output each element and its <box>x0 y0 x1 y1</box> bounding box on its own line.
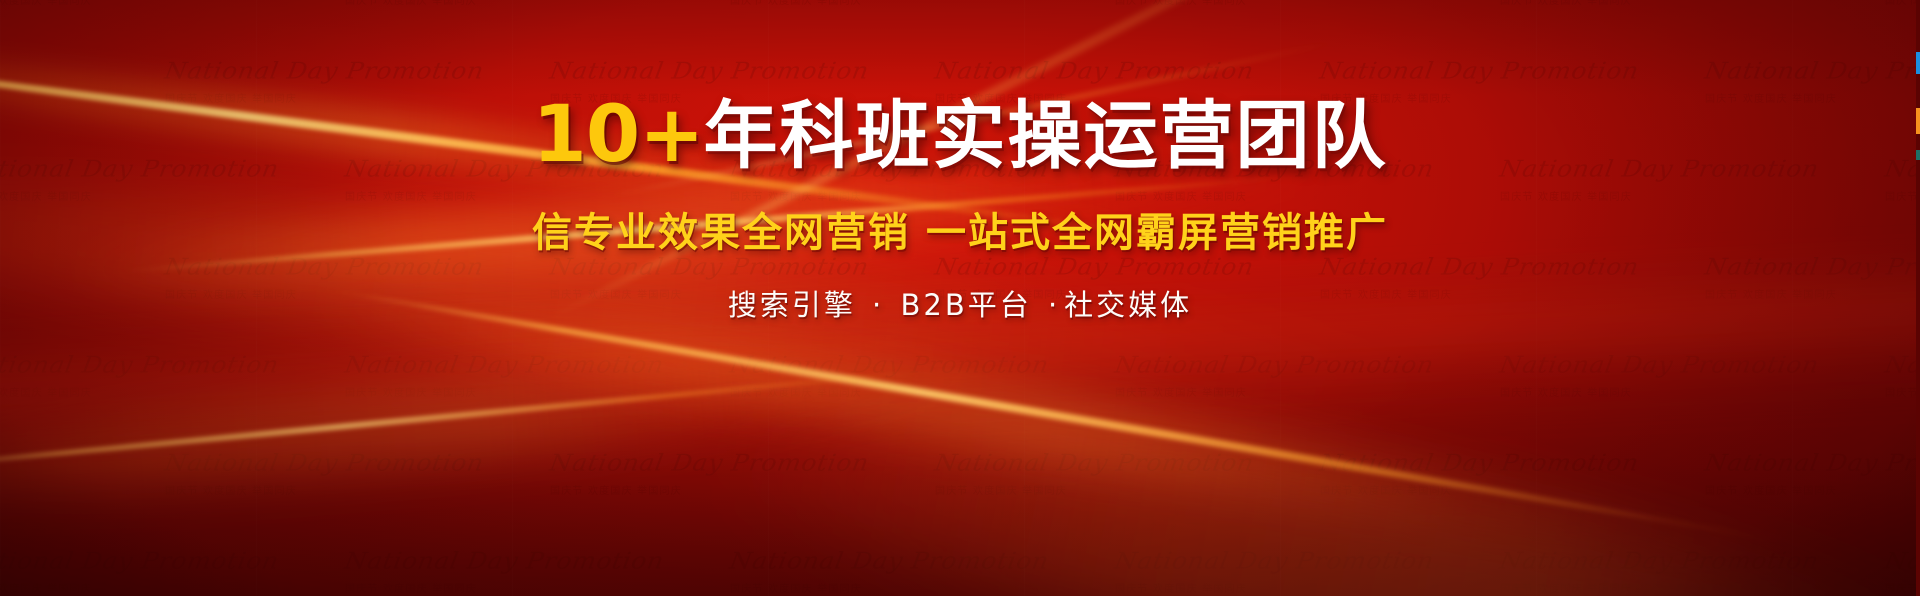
headline-number: 10+ <box>533 90 704 180</box>
watermark-sub-text: 国庆节 欢度国庆 举国同庆 <box>1115 580 1500 595</box>
tagline-item-social-media: 社交媒体 <box>1064 288 1192 322</box>
headline-text: 年科班实操运营团队 <box>703 93 1387 179</box>
watermark-sub-text: 国庆节 欢度国庆 举国同庆 <box>550 482 935 497</box>
watermark-script-text: National Day Promotion <box>0 549 347 572</box>
light-streak-glow-bottom <box>0 329 999 520</box>
watermark-tile: National Day Promotion国庆节 欢度国庆 举国同庆 <box>1705 450 1920 497</box>
watermark-script-text: National Day Promotion <box>1318 451 1707 474</box>
watermark-script-text: National Day Promotion <box>933 451 1322 474</box>
watermark-sub-text: 国庆节 欢度国庆 举国同庆 <box>1500 580 1885 595</box>
watermark-tile: National Day Promotion国庆节 欢度国庆 举国同庆 <box>730 352 1115 399</box>
watermark-sub-text: 国庆节 欢度国庆 举国同庆 <box>1705 482 1920 497</box>
edge-mark-blue-icon <box>1916 52 1920 74</box>
watermark-sub-text: 国庆节 欢度国庆 举国同庆 <box>0 580 345 595</box>
watermark-script-text: National Day Promotion <box>728 549 1117 572</box>
watermark-script-text: National Day Promotion <box>343 353 732 376</box>
watermark-row: National Day Promotion国庆节 欢度国庆 举国同庆Natio… <box>0 352 1920 450</box>
edge-mark-teal-icon <box>1916 150 1920 160</box>
watermark-sub-text: 国庆节 欢度国庆 举国同庆 <box>345 384 730 399</box>
watermark-script-text: National Day Promotion <box>1703 451 1920 474</box>
watermark-sub-text: 国庆节 欢度国庆 举国同庆 <box>730 580 1115 595</box>
watermark-script-text: National Day Promotion <box>1883 549 1920 572</box>
watermark-tile: National Day Promotion国庆节 欢度国庆 举国同庆 <box>550 450 935 497</box>
watermark-tile: National Day Promotion国庆节 欢度国庆 举国同庆 <box>1115 548 1500 595</box>
watermark-script-text: National Day Promotion <box>0 353 347 376</box>
watermark-tile: National Day Promotion国庆节 欢度国庆 举国同庆 <box>730 548 1115 595</box>
watermark-sub-text: 国庆节 欢度国庆 举国同庆 <box>165 482 550 497</box>
watermark-tile: National Day Promotion国庆节 欢度国庆 举国同庆 <box>1500 352 1885 399</box>
watermark-sub-text: 国庆节 欢度国庆 举国同庆 <box>1320 482 1705 497</box>
light-streak-bottom <box>0 368 925 476</box>
tagline-item-search-engine: 搜索引擎 <box>728 288 856 322</box>
watermark-row: National Day Promotion国庆节 欢度国庆 举国同庆Natio… <box>165 450 1920 548</box>
watermark-script-text: National Day Promotion <box>1113 353 1502 376</box>
banner-subline: 信专业效果全网营销 一站式全网霸屏营销推广 <box>0 200 1920 258</box>
watermark-tile: National Day Promotion国庆节 欢度国庆 举国同庆 <box>1500 548 1885 595</box>
watermark-sub-text: 国庆节 欢度国庆 举国同庆 <box>730 384 1115 399</box>
watermark-script-text: National Day Promotion <box>343 549 732 572</box>
watermark-row: National Day Promotion国庆节 欢度国庆 举国同庆Natio… <box>0 548 1920 596</box>
watermark-sub-text: 国庆节 欢度国庆 举国同庆 <box>1115 384 1500 399</box>
watermark-tile: National Day Promotion国庆节 欢度国庆 举国同庆 <box>345 352 730 399</box>
watermark-tile: National Day Promotion国庆节 欢度国庆 举国同庆 <box>1115 352 1500 399</box>
watermark-sub-text: 国庆节 欢度国庆 举国同庆 <box>1500 384 1885 399</box>
watermark-tile: National Day Promotion国庆节 欢度国庆 举国同庆 <box>0 548 345 595</box>
right-edge-strip <box>1916 0 1920 596</box>
banner-headline: 10+年科班实操运营团队 <box>0 96 1920 174</box>
watermark-sub-text: 国庆节 欢度国庆 举国同庆 <box>0 384 345 399</box>
promotional-banner: National Day Promotion国庆节 欢度国庆 举国同庆Natio… <box>0 0 1920 596</box>
tagline-separator-1: · <box>868 288 888 322</box>
watermark-tile: National Day Promotion国庆节 欢度国庆 举国同庆 <box>1885 548 1920 595</box>
banner-content: 10+年科班实操运营团队 信专业效果全网营销 一站式全网霸屏营销推广 搜索引擎 … <box>0 0 1920 324</box>
watermark-script-text: National Day Promotion <box>163 451 552 474</box>
watermark-script-text: National Day Promotion <box>1883 353 1920 376</box>
banner-tagline: 搜索引擎 · B2B平台 ·社交媒体 <box>0 282 1920 324</box>
tagline-separator-2: · <box>1044 288 1064 322</box>
watermark-sub-text: 国庆节 欢度国庆 举国同庆 <box>345 580 730 595</box>
watermark-sub-text: 国庆节 欢度国庆 举国同庆 <box>1885 384 1920 399</box>
watermark-sub-text: 国庆节 欢度国庆 举国同庆 <box>1885 580 1920 595</box>
light-streak-main-ray <box>329 286 1789 546</box>
watermark-tile: National Day Promotion国庆节 欢度国庆 举国同庆 <box>935 450 1320 497</box>
watermark-script-text: National Day Promotion <box>548 451 937 474</box>
light-streak-bottom-right <box>700 354 1920 596</box>
watermark-script-text: National Day Promotion <box>1113 549 1502 572</box>
watermark-script-text: National Day Promotion <box>728 353 1117 376</box>
tagline-item-b2b-platform: B2B平台 <box>900 288 1031 322</box>
watermark-tile: National Day Promotion国庆节 欢度国庆 举国同庆 <box>1320 450 1705 497</box>
watermark-tile: National Day Promotion国庆节 欢度国庆 举国同庆 <box>1885 352 1920 399</box>
watermark-sub-text: 国庆节 欢度国庆 举国同庆 <box>935 482 1320 497</box>
watermark-tile: National Day Promotion国庆节 欢度国庆 举国同庆 <box>165 450 550 497</box>
watermark-script-text: National Day Promotion <box>1498 549 1887 572</box>
watermark-tile: National Day Promotion国庆节 欢度国庆 举国同庆 <box>345 548 730 595</box>
watermark-tile: National Day Promotion国庆节 欢度国庆 举国同庆 <box>0 352 345 399</box>
edge-mark-orange-icon <box>1916 108 1920 134</box>
watermark-script-text: National Day Promotion <box>1498 353 1887 376</box>
